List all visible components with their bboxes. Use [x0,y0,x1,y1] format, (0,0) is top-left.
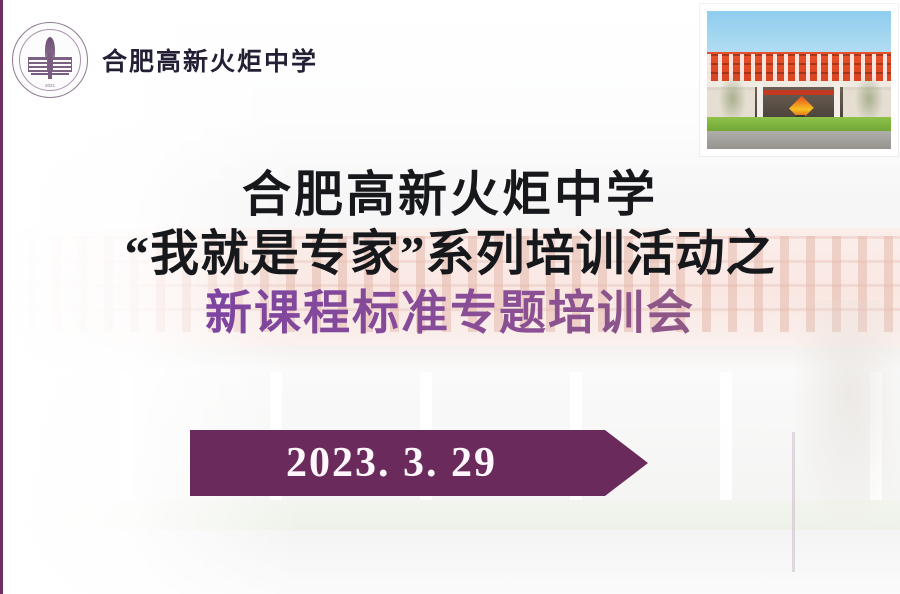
title-line-1: 合肥高新火炬中学 [0,168,900,223]
title-line-3-highlight: 新课程标准专题培训会 [0,288,900,341]
date-label: 2023. 3. 29 [286,439,497,487]
campus-photo [707,11,891,149]
photo-entrance-banner [762,90,836,96]
photo-plaza [707,131,891,149]
photo-tree-right [854,74,883,118]
title-line-2: “我就是专家”系列培训活动之 [0,227,900,282]
title-block: 合肥高新火炬中学 “我就是专家”系列培训活动之 新课程标准专题培训会 [0,168,900,340]
school-name-label: 合肥高新火炬中学 [102,42,318,78]
poster-canvas: 2021 合肥高新火炬中学 合肥高新火炬中学 “我就是专家”系列培训 [0,0,900,594]
photo-column-right [834,83,840,118]
campus-photo-frame [700,4,898,156]
emblem-base-line [31,73,69,75]
emblem-book-right-icon [52,57,72,72]
emblem-book-left-icon [28,57,48,72]
school-emblem-icon: 2021 [12,22,88,98]
photo-column-left [757,83,763,118]
date-arrow-banner: 2023. 3. 29 [190,430,648,496]
photo-tree-left [718,74,747,118]
emblem-year-label: 2021 [45,83,55,88]
brand-header: 2021 合肥高新火炬中学 [12,22,318,98]
background-lamp-post [792,432,795,572]
